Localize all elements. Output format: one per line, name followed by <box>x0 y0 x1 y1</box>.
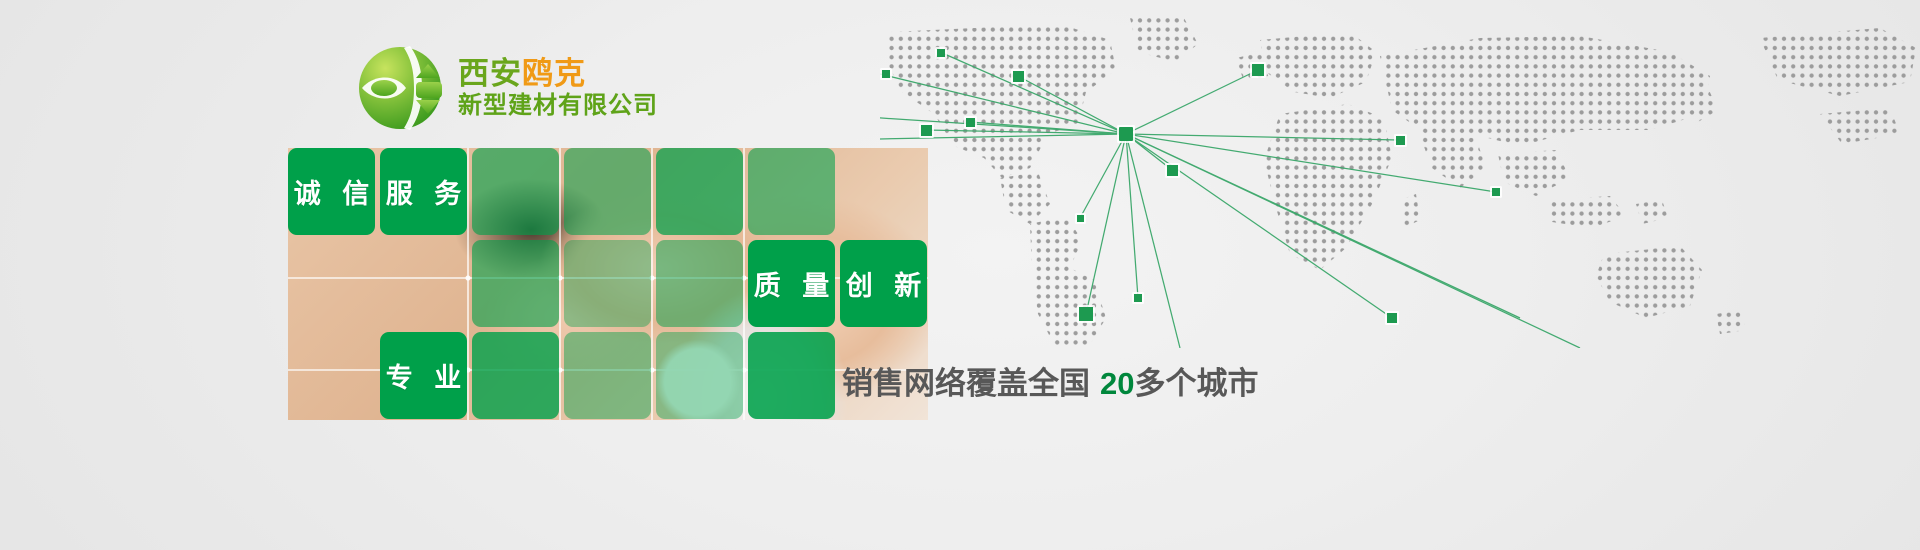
sales-network-tagline: 销售网络覆盖全国20多个城市 <box>842 358 1258 403</box>
tile-service-label: 服 务 <box>379 172 469 211</box>
company-banner: 西安鸥克 新型建材有限公司 <box>0 0 1920 550</box>
tile-blank-r1c6 <box>748 148 835 235</box>
tile-blank-r2c5 <box>656 240 743 327</box>
tile-blank-r3c5 <box>656 332 743 419</box>
tile-blank-r2c3 <box>472 240 559 327</box>
values-tile-grid: 诚 信 服 务 质 量 创 新 专 业 <box>288 148 928 420</box>
tagline-part1: 销售网络覆盖全国 <box>842 366 1090 401</box>
tile-blank-r1c3 <box>472 148 559 235</box>
tile-integrity-label: 诚 信 <box>287 172 377 211</box>
map-dot-field <box>880 18 1920 348</box>
tile-blank-r1c5 <box>656 148 743 235</box>
tile-blank-r3c4 <box>564 332 651 419</box>
logo-company-name-line1: 西安鸥克 <box>458 56 658 93</box>
company-globe-logo-icon <box>356 44 444 132</box>
logo-company-name-line2: 新型建材有限公司 <box>458 92 658 120</box>
tile-professional-label: 专 业 <box>379 356 469 395</box>
tile-quality[interactable]: 质 量 <box>748 240 835 327</box>
tile-innovation[interactable]: 创 新 <box>840 240 927 327</box>
tile-blank-r3c6 <box>748 332 835 419</box>
logo-name-brand: 鸥克 <box>522 56 586 91</box>
tile-blank-r1c4 <box>564 148 651 235</box>
world-map-graphic <box>880 18 1920 348</box>
tile-blank-r3c3 <box>472 332 559 419</box>
company-logo[interactable]: 西安鸥克 新型建材有限公司 <box>356 44 658 132</box>
logo-name-prefix: 西安 <box>458 56 522 91</box>
tile-blank-r2c4 <box>564 240 651 327</box>
tile-quality-label: 质 量 <box>747 264 837 303</box>
tile-integrity[interactable]: 诚 信 <box>288 148 375 235</box>
tile-service[interactable]: 服 务 <box>380 148 467 235</box>
tagline-highlight-number: 20 <box>1100 366 1134 401</box>
tile-innovation-label: 创 新 <box>839 264 929 303</box>
tagline-part2: 多个城市 <box>1134 366 1258 401</box>
tile-professional[interactable]: 专 业 <box>380 332 467 419</box>
